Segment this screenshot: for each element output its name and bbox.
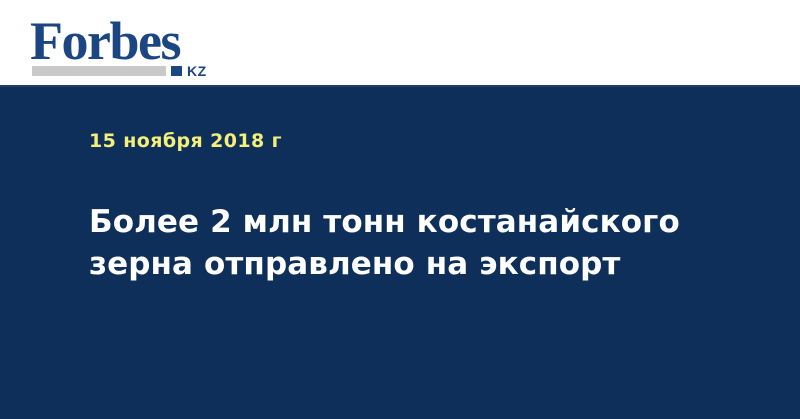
headline-line-2: зерна отправлено на экспорт: [89, 243, 729, 285]
gray-underbar-icon: [32, 66, 166, 76]
site-header: Forbes KZ: [0, 0, 800, 87]
article-date: 15 ноября 2018 г: [89, 130, 282, 152]
forbes-wordmark: Forbes: [30, 14, 180, 68]
article-headline: Более 2 млн тонн костанайского зерна отп…: [89, 201, 729, 285]
kz-suffix-label: KZ: [187, 64, 207, 78]
article-card: Forbes KZ 15 ноября 2018 г Более 2 млн т…: [0, 0, 800, 419]
article-body: 15 ноября 2018 г Более 2 млн тонн костан…: [0, 87, 800, 419]
headline-line-1: Более 2 млн тонн костанайского: [89, 201, 729, 243]
forbes-kz-logo[interactable]: Forbes KZ: [30, 14, 240, 76]
blue-square-icon: [171, 66, 182, 76]
